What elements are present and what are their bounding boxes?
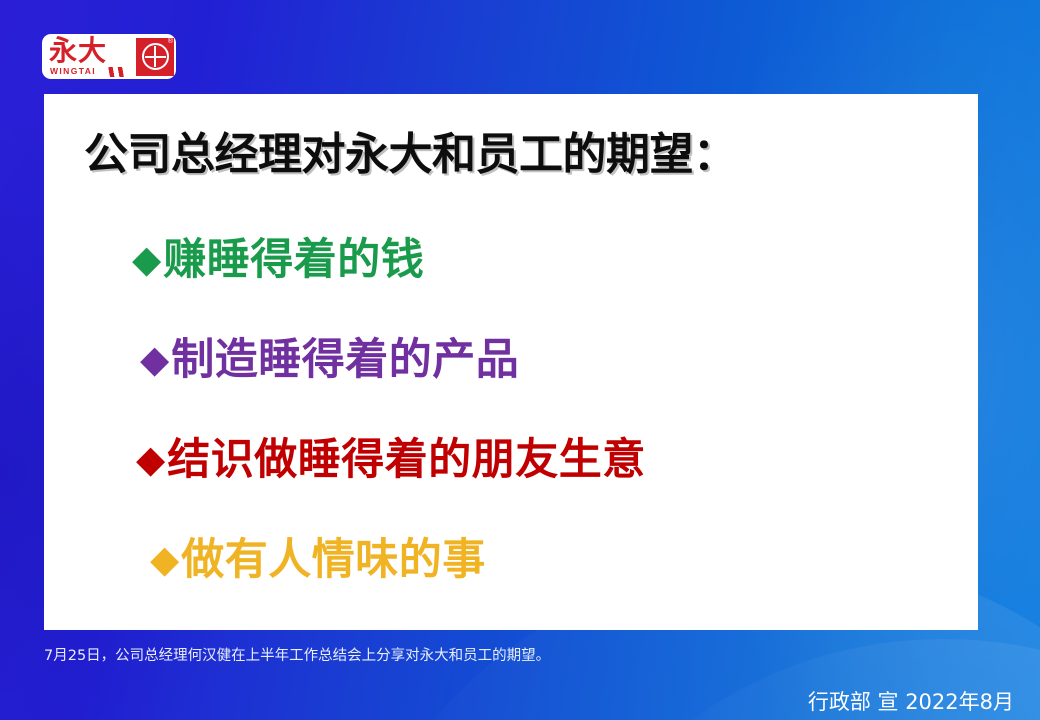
diamond-bullet-icon: ◆ <box>140 340 169 378</box>
list-item-label: 赚睡得着的钱 <box>163 239 424 282</box>
logo-emblem-icon: ® <box>136 38 174 76</box>
list-item-label: 结识做睡得着的朋友生意 <box>167 439 646 482</box>
list-item-label: 制造睡得着的产品 <box>171 339 519 382</box>
list-item-label: 做有人情味的事 <box>181 539 486 582</box>
diamond-bullet-icon: ◆ <box>150 540 179 578</box>
globe-icon <box>142 43 169 70</box>
diamond-bullet-icon: ◆ <box>136 440 165 478</box>
logo-latin-text: WINGTAI <box>50 67 96 75</box>
list-item: ◆ 做有人情味的事 <box>44 510 978 610</box>
footer-text: 行政部 宣 2022年8月 <box>808 686 1014 716</box>
company-logo: 永大 WINGTAI ® <box>42 34 176 79</box>
logo-slash-decoration <box>105 67 131 77</box>
logo-hanzi-text: 永大 <box>49 36 107 66</box>
logo-wordmark: 永大 WINGTAI <box>49 37 133 77</box>
list-item: ◆ 结识做睡得着的朋友生意 <box>44 410 978 510</box>
content-panel: 公司总经理对永大和员工的期望： ◆ 赚睡得着的钱 ◆ 制造睡得着的产品 ◆ 结识… <box>44 94 978 630</box>
list-item: ◆ 赚睡得着的钱 <box>44 210 978 310</box>
diamond-bullet-icon: ◆ <box>132 240 161 278</box>
page-title: 公司总经理对永大和员工的期望： <box>84 118 737 182</box>
slide-canvas: 永大 WINGTAI ® 公司总经理对永大和员工的期望： ◆ 赚睡得着的钱 ◆ … <box>0 0 1040 720</box>
registered-trademark-icon: ® <box>168 38 173 46</box>
caption-text: 7月25日，公司总经理何汉健在上半年工作总结会上分享对永大和员工的期望。 <box>44 644 550 665</box>
list-item: ◆ 制造睡得着的产品 <box>44 310 978 410</box>
bullet-list: ◆ 赚睡得着的钱 ◆ 制造睡得着的产品 ◆ 结识做睡得着的朋友生意 ◆ 做有人情… <box>44 210 978 610</box>
